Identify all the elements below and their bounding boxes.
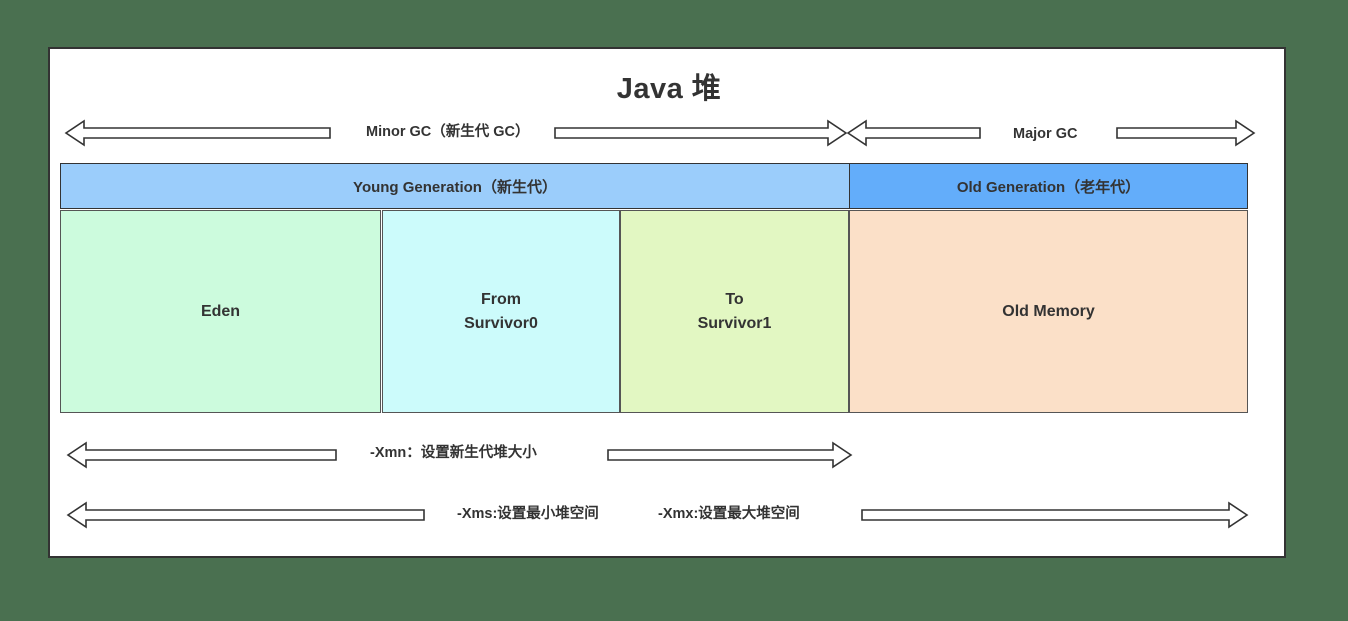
to-survivor-label: To Survivor1 [698, 288, 772, 336]
major-gc-left-arrow [848, 119, 980, 147]
old-generation-label: Old Generation（老年代） [957, 176, 1140, 197]
minor-gc-left-arrow [66, 119, 330, 147]
major-gc-right-arrow [1117, 119, 1254, 147]
xmn-label: -Xmn：设置新生代堆大小 [370, 445, 537, 462]
xms-left-arrow [68, 501, 424, 529]
young-generation-band: Young Generation（新生代） [60, 163, 850, 209]
young-generation-label: Young Generation（新生代） [353, 176, 557, 197]
java-heap-card: Java 堆 Minor GC（新生代 GC） Major GC [48, 47, 1286, 558]
from-survivor-label: From Survivor0 [464, 288, 538, 336]
old-generation-band: Old Generation（老年代） [849, 163, 1248, 209]
xmn-left-arrow [68, 441, 336, 469]
eden-label: Eden [201, 300, 240, 324]
minor-gc-label: Minor GC（新生代 GC） [366, 124, 530, 141]
from-survivor-block: From Survivor0 [382, 210, 620, 413]
xmn-right-arrow [608, 441, 851, 469]
xms-label: -Xms:设置最小堆空间 [457, 506, 599, 523]
xmx-right-arrow [862, 501, 1247, 529]
diagram-canvas: Java 堆 Minor GC（新生代 GC） Major GC [0, 0, 1348, 621]
eden-block: Eden [60, 210, 381, 413]
to-survivor-block: To Survivor1 [620, 210, 849, 413]
old-memory-block: Old Memory [849, 210, 1248, 413]
page-title: Java 堆 [50, 65, 1288, 107]
xmx-label: -Xmx:设置最大堆空间 [658, 506, 800, 523]
minor-gc-right-arrow [555, 119, 846, 147]
major-gc-label: Major GC [1013, 126, 1077, 143]
old-memory-label: Old Memory [1002, 300, 1094, 324]
